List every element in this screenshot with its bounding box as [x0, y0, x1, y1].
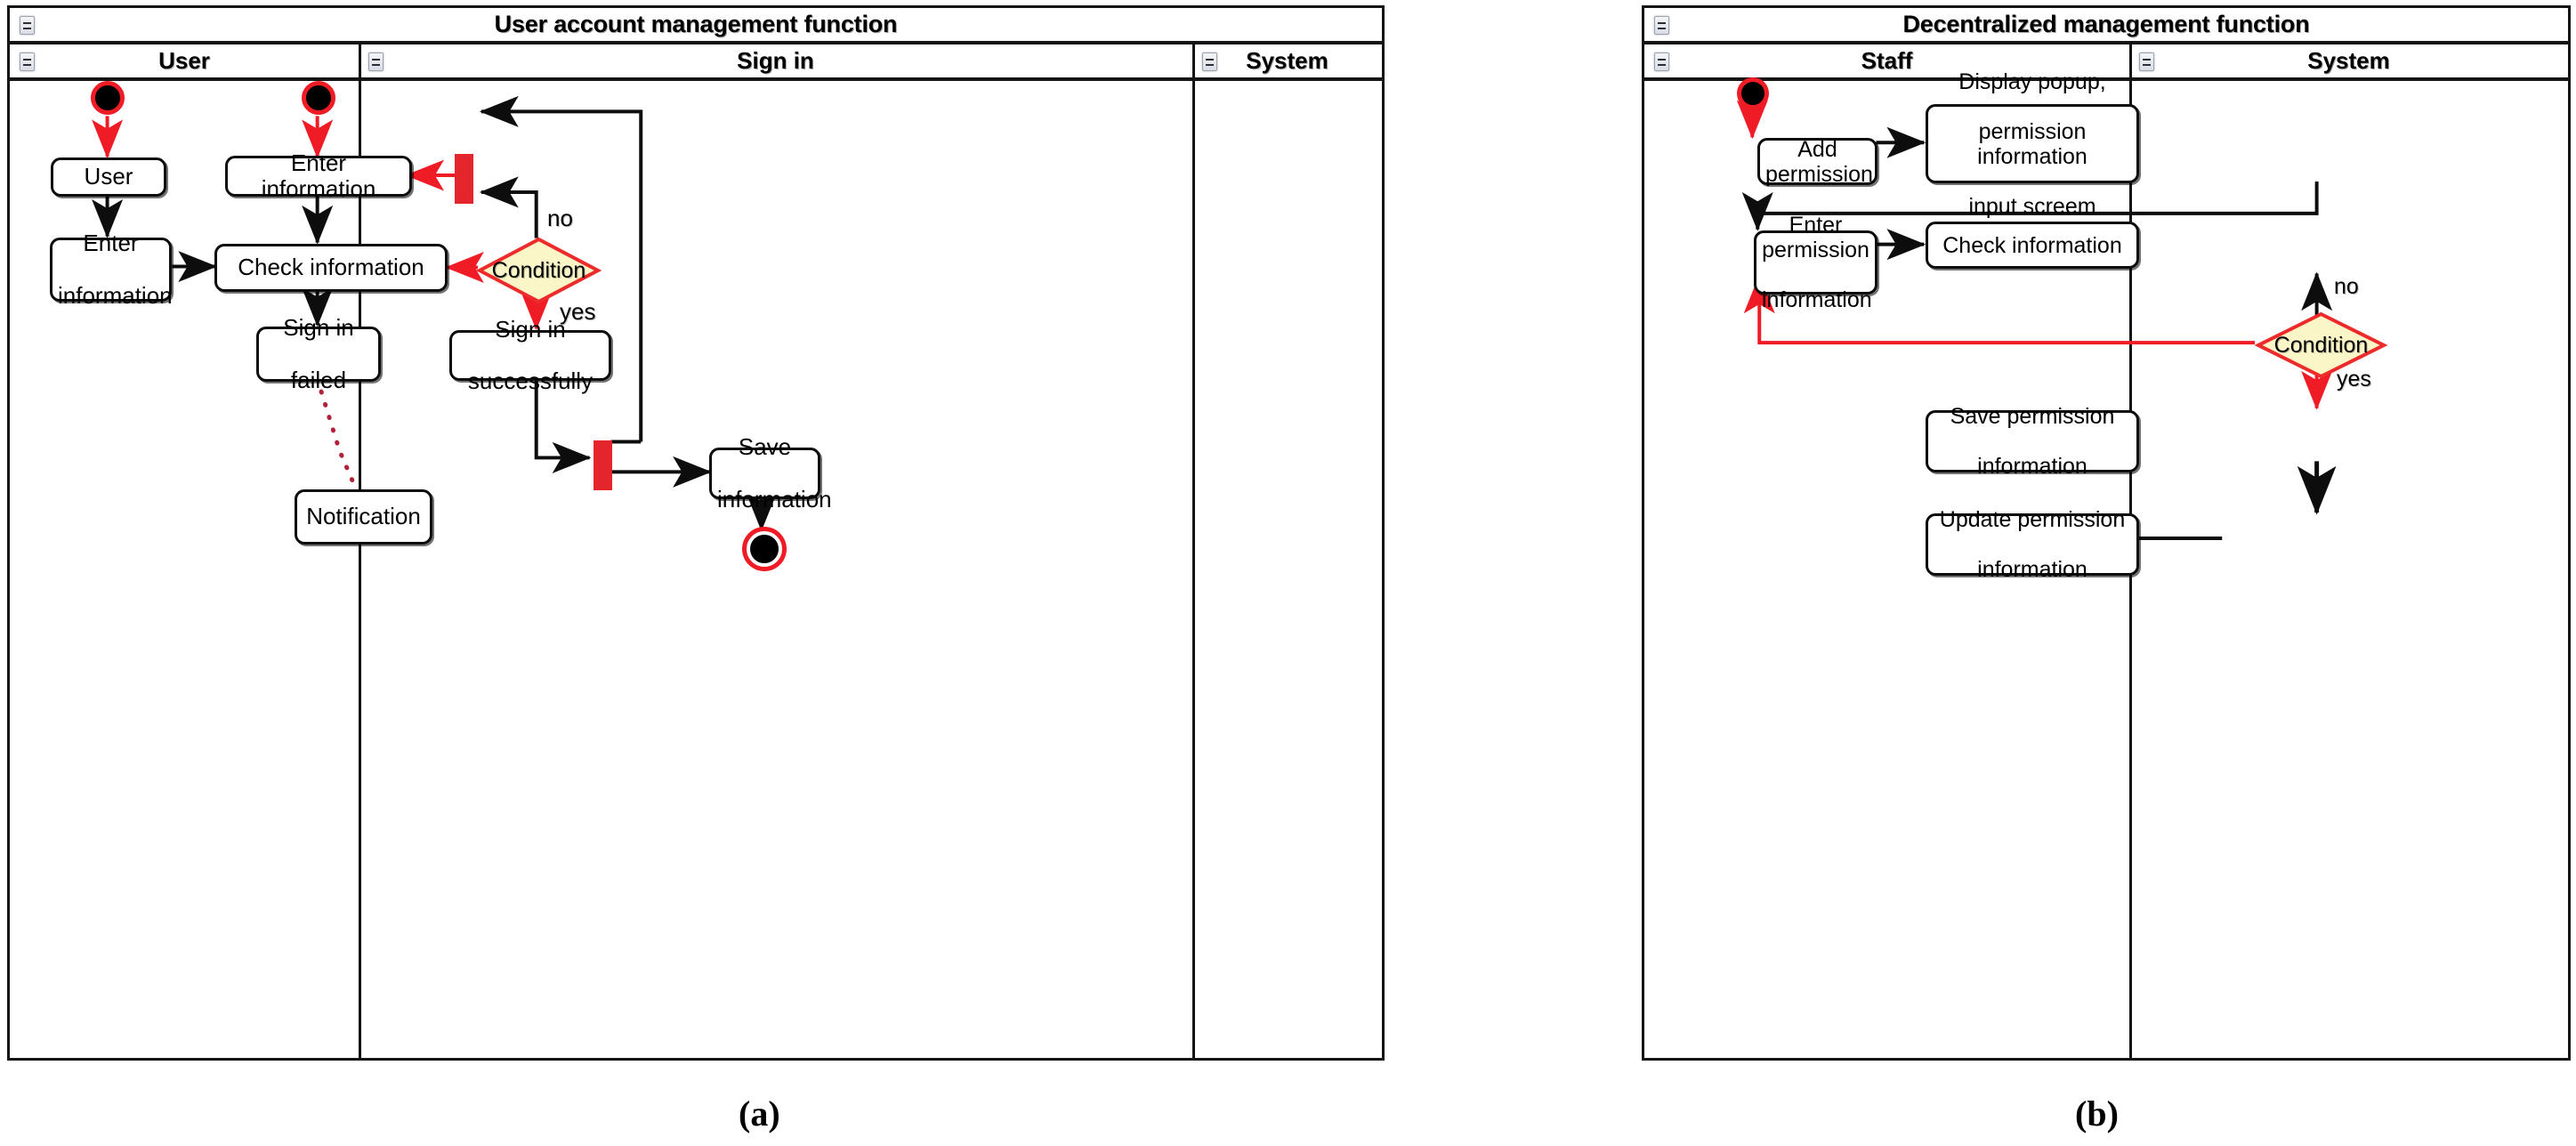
- figure-b: Decentralized management function Staff …: [1642, 5, 2571, 1064]
- node-label: Sign in successfully: [457, 317, 603, 394]
- node-label-line-1: Enter: [58, 230, 164, 256]
- node-label-line-2: information: [1762, 287, 1869, 312]
- node-save-permission-information[interactable]: Save permission information: [1926, 410, 2139, 472]
- lane-header-signin: Sign in: [359, 44, 1192, 81]
- node-user[interactable]: User: [51, 157, 166, 197]
- node-enter-permission-information[interactable]: Enter permission information: [1754, 230, 1877, 295]
- node-sign-in-failed[interactable]: Sign in failed: [256, 327, 381, 382]
- lane-divider-2: [1192, 44, 1195, 1060]
- figure-a-caption: (a): [739, 1093, 780, 1134]
- collapse-icon[interactable]: [1202, 52, 1217, 71]
- page-title: User account management function: [495, 11, 898, 38]
- node-check-information[interactable]: Check information: [214, 244, 448, 292]
- node-label: Sign in failed: [264, 315, 373, 392]
- node-label: User: [59, 164, 158, 190]
- node-label-line-3: input screem: [1934, 194, 2131, 219]
- node-notification[interactable]: Notification: [295, 489, 432, 545]
- figure-b-title-band: Decentralized management function: [1644, 8, 2568, 44]
- lane-header-system-b: System: [2129, 44, 2568, 81]
- collapse-icon[interactable]: [20, 52, 35, 71]
- page-title: Decentralized management function: [1903, 11, 2310, 38]
- node-label-line-2: permission information: [1934, 119, 2131, 169]
- figure-canvas: User account management function User Si…: [0, 0, 2576, 1146]
- node-label-line-1: Display popup,: [1934, 69, 2131, 94]
- collapse-icon[interactable]: [20, 16, 35, 35]
- lane-label-signin: Sign in: [737, 47, 814, 75]
- edge-label-yes-b: yes: [2337, 367, 2371, 392]
- join-bar-bottom: [594, 440, 612, 490]
- edge-label-no-b: no: [2334, 275, 2359, 300]
- node-label-line-2: information: [717, 487, 812, 512]
- lane-label-system: System: [1246, 47, 1328, 75]
- node-label-line-2: information: [1934, 454, 2131, 479]
- node-label-line-1: Update permission: [1934, 507, 2131, 532]
- node-label: Notification: [303, 504, 424, 529]
- lane-header-system: System: [1192, 44, 1382, 81]
- collapse-icon[interactable]: [1654, 52, 1669, 71]
- node-label: Save information: [717, 434, 812, 512]
- node-enter-information-signin[interactable]: Enter information: [225, 156, 412, 197]
- node-display-popup[interactable]: Display popup, permission information in…: [1926, 104, 2139, 183]
- node-label-line-1: Save: [717, 434, 812, 460]
- node-sign-in-successfully[interactable]: Sign in successfully: [449, 330, 611, 381]
- node-label: Check information: [1934, 233, 2131, 258]
- node-update-permission-information[interactable]: Update permission information: [1926, 513, 2139, 576]
- initial-node-signin: [302, 81, 335, 115]
- edge-label-no: no: [547, 206, 573, 231]
- lane-label-system: System: [2307, 47, 2390, 75]
- node-enter-information-user[interactable]: Enter information: [50, 238, 172, 302]
- figure-a-frame: User account management function User Si…: [7, 5, 1385, 1061]
- node-label: Update permission information: [1934, 507, 2131, 582]
- node-label-line-2: information: [1934, 557, 2131, 582]
- node-label: Add permission: [1765, 137, 1869, 187]
- node-label-line-2: information: [58, 283, 164, 309]
- final-node-system: [747, 531, 782, 567]
- figure-a: User account management function User Si…: [7, 5, 1385, 1064]
- node-label: Save permission information: [1934, 404, 2131, 479]
- node-label: Enter information: [233, 150, 404, 202]
- collapse-icon[interactable]: [1654, 16, 1669, 35]
- collapse-icon[interactable]: [368, 52, 384, 71]
- figure-a-title-band: User account management function: [10, 8, 1382, 44]
- initial-node-staff: [1737, 77, 1769, 109]
- node-label-line-1: Enter permission: [1762, 213, 1869, 262]
- node-label-line-1: Save permission: [1934, 404, 2131, 429]
- figure-a-connectors: Notification -->: [10, 8, 1382, 1058]
- node-label: Enter permission information: [1762, 213, 1869, 312]
- node-save-information[interactable]: Save information: [709, 448, 820, 499]
- figure-b-caption: (b): [2075, 1093, 2119, 1134]
- node-add-permission[interactable]: Add permission: [1757, 138, 1877, 185]
- lane-label-user: User: [158, 47, 210, 75]
- node-check-information-b[interactable]: Check information: [1926, 222, 2139, 269]
- edge-label-yes: yes: [560, 299, 595, 325]
- join-bar-top: [455, 154, 473, 204]
- node-label-line-1: Sign in: [264, 315, 373, 341]
- node-label: Check information: [222, 254, 440, 280]
- initial-node-user: [91, 81, 125, 115]
- lane-header-user: User: [10, 44, 359, 81]
- decision-condition[interactable]: Condition: [478, 238, 600, 303]
- node-label: Enter information: [58, 230, 164, 308]
- node-label-line-2: successfully: [457, 368, 603, 394]
- figure-b-frame: Decentralized management function Staff …: [1642, 5, 2571, 1061]
- node-label-line-2: failed: [264, 367, 373, 393]
- node-label: Display popup, permission information in…: [1934, 69, 2131, 219]
- collapse-icon[interactable]: [2139, 52, 2154, 71]
- lane-label-staff: Staff: [1861, 47, 1913, 75]
